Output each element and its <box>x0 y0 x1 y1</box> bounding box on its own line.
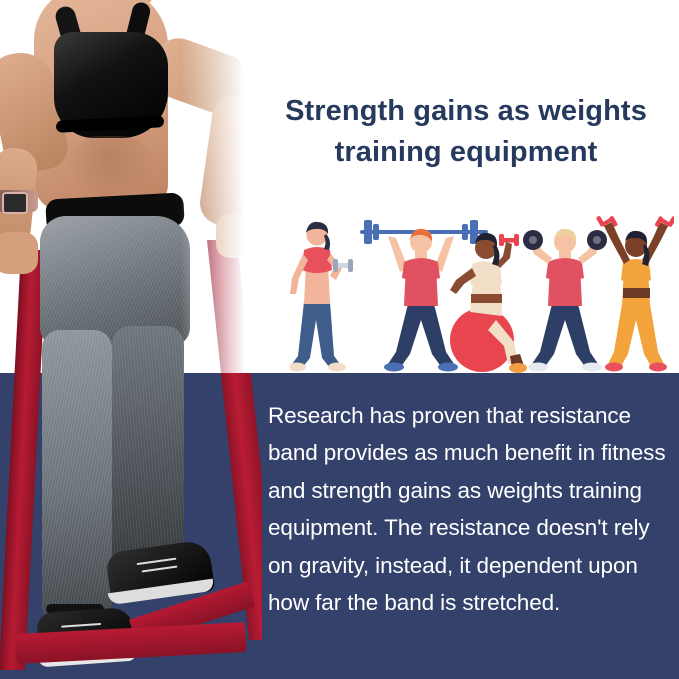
figure-woman-arms-raised <box>596 216 674 372</box>
smartwatch-face <box>2 192 28 214</box>
figure-woman-exercise-ball <box>450 233 527 373</box>
exercise-figures-illustration <box>290 216 674 374</box>
hero-photo-woman-with-resistance-band <box>0 0 262 679</box>
figures-svg <box>290 216 674 374</box>
leggings-left-leg <box>42 330 112 620</box>
body-paragraph: Research has proven that resistance band… <box>268 397 674 622</box>
product-infographic: Strength gains as weights training equip… <box>0 0 679 679</box>
right-forearm <box>197 93 262 229</box>
figure-man-shoulder-press <box>523 229 607 372</box>
page-title: Strength gains as weights training equip… <box>262 91 670 173</box>
resistance-band-right-strand <box>207 240 262 640</box>
figure-woman-dumbbell <box>290 222 353 372</box>
right-hand <box>216 214 262 258</box>
left-hand <box>0 232 38 274</box>
